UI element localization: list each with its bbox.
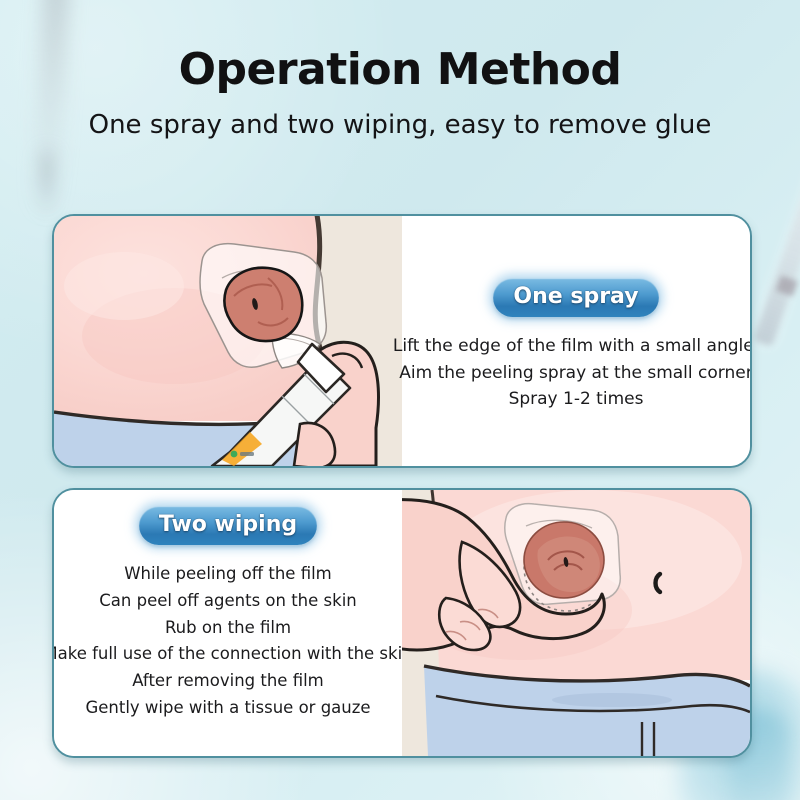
step-one-illustration xyxy=(54,216,402,466)
step-two-text-pane: Two wiping While peeling off the film Ca… xyxy=(54,490,402,756)
poster-root: Operation Method One spray and two wipin… xyxy=(0,0,800,800)
badge-one-spray: One spray xyxy=(493,278,658,317)
instruction-line: After removing the film xyxy=(52,668,413,695)
badge-two-wiping: Two wiping xyxy=(139,506,317,545)
step-card-two-wiping: Two wiping While peeling off the film Ca… xyxy=(52,488,752,758)
instruction-line: Aim the peeling spray at the small corne… xyxy=(393,360,752,386)
instruction-line: Gently wipe with a tissue or gauze xyxy=(52,695,413,722)
step-two-illustration xyxy=(402,490,750,756)
step-card-one-spray: One spray Lift the edge of the film with… xyxy=(52,214,752,468)
blurred-syringe-icon xyxy=(753,123,800,347)
hand-peeling-film-icon xyxy=(402,490,750,756)
page-title: Operation Method xyxy=(0,0,800,95)
blurred-vertical-instrument-tip-icon xyxy=(36,150,58,220)
instruction-line: Make full use of the connection with the… xyxy=(52,641,413,668)
hand-holding-spray-bottle-icon xyxy=(54,216,402,466)
instruction-line: Lift the edge of the film with a small a… xyxy=(393,333,752,359)
instruction-line: While peeling off the film xyxy=(52,561,413,588)
page-subtitle: One spray and two wiping, easy to remove… xyxy=(0,95,800,140)
instruction-line: Can peel off agents on the skin xyxy=(52,588,413,615)
instruction-line: Rub on the film xyxy=(52,615,413,642)
instruction-line: Spray 1-2 times xyxy=(393,386,752,412)
step-one-instructions: Lift the edge of the film with a small a… xyxy=(393,333,752,412)
blurred-syringe-band-icon xyxy=(776,276,798,297)
header: Operation Method One spray and two wipin… xyxy=(0,0,800,140)
step-two-instructions: While peeling off the film Can peel off … xyxy=(52,561,413,721)
step-one-text-pane: One spray Lift the edge of the film with… xyxy=(402,216,750,466)
